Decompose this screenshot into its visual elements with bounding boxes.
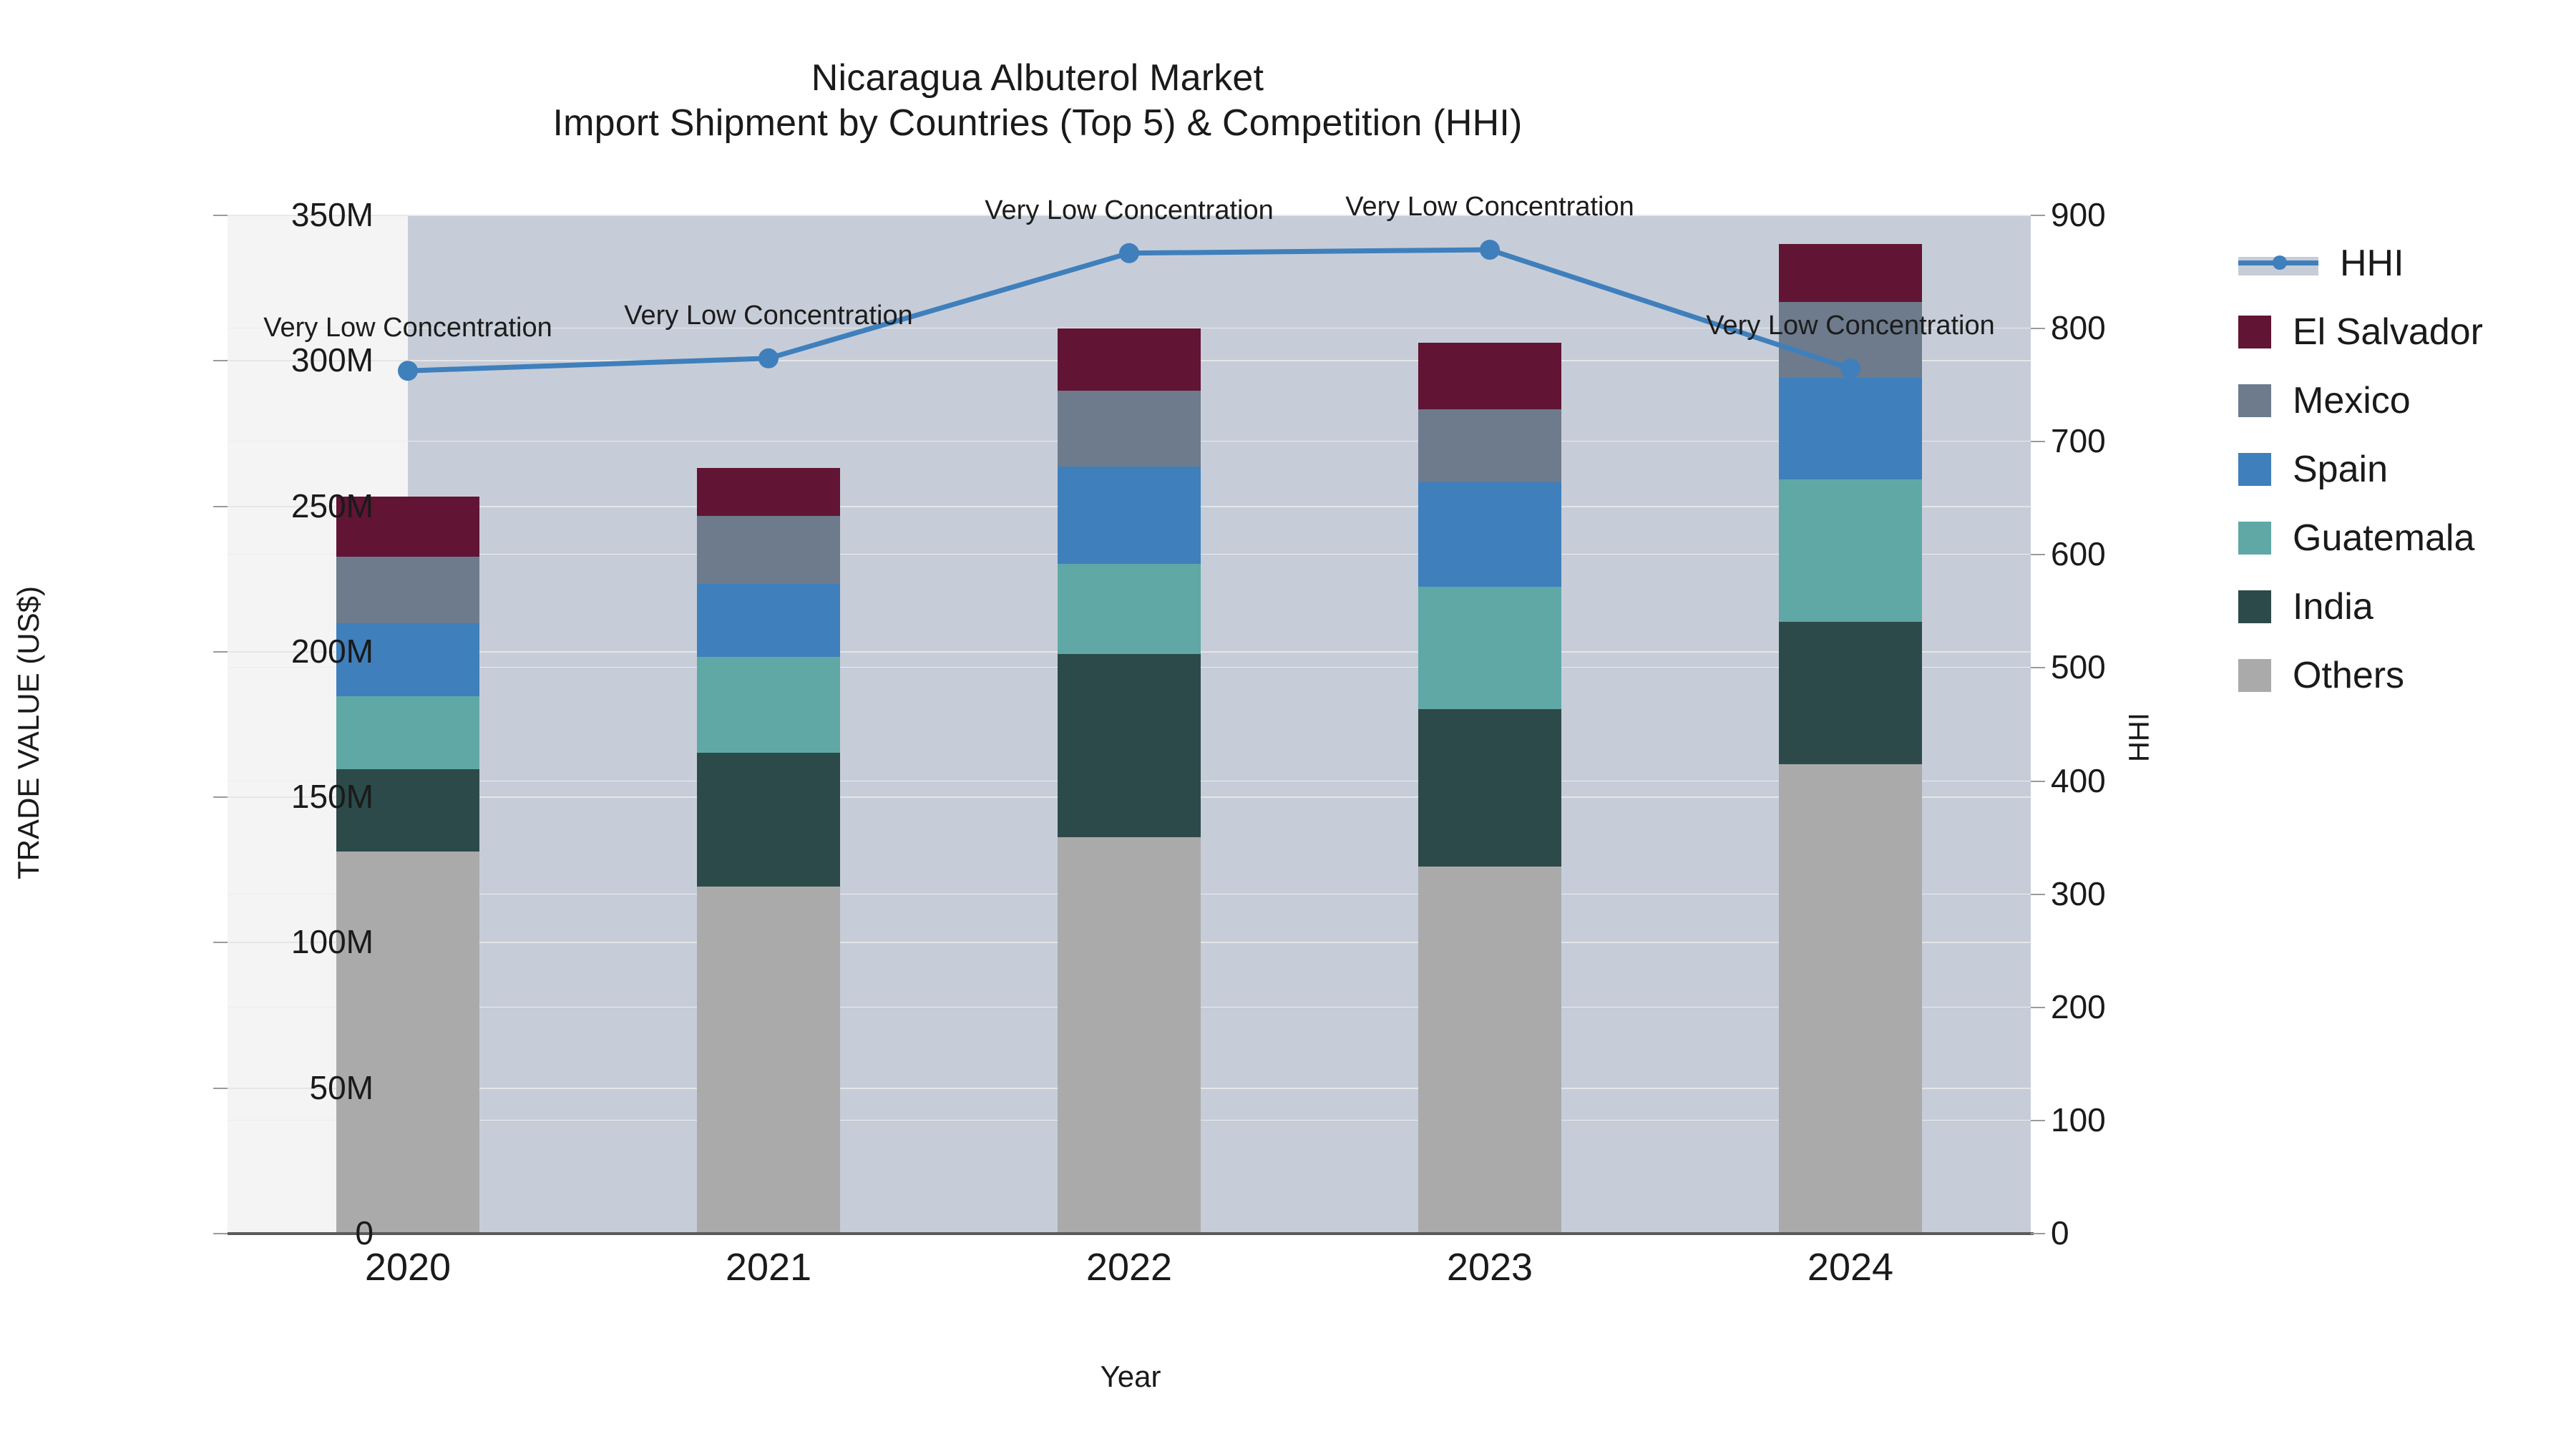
legend-item-india[interactable]: India [2238,572,2483,641]
bar-segment-others[interactable] [336,852,479,1233]
y2-tick-mark [2031,894,2045,895]
x-axis-title: Year [228,1360,2034,1394]
bar-stack[interactable] [1418,343,1561,1233]
legend-swatch-icon [2238,590,2271,623]
bar-segment-guatemala[interactable] [1058,564,1201,654]
bar-stack[interactable] [1779,244,1922,1233]
chart-title-block: Nicaragua Albuterol Market Import Shipme… [0,56,2075,147]
x-tick-label-2020: 2020 [265,1245,551,1289]
x-tick-label-2024: 2024 [1707,1245,1994,1289]
hhi-annotation-2021: Very Low Concentration [624,301,912,331]
bar-segment-mexico[interactable] [1418,409,1561,482]
bar-stack[interactable] [697,468,840,1233]
y2-tick-label: 100 [2051,1101,2223,1139]
plot-area [228,215,2031,1233]
hhi-annotation-2023: Very Low Concentration [1345,192,1634,223]
y2-tick-mark [2031,781,2045,782]
legend-swatch-icon [2238,316,2271,348]
hhi-annotation-2024: Very Low Concentration [1706,311,1994,341]
bar-segment-el-salvador[interactable] [1779,244,1922,302]
y-tick-mark [213,506,228,507]
y-tick-mark [213,215,228,216]
y-tick-mark [213,942,228,943]
bar-segment-others[interactable] [1779,764,1922,1233]
bar-segment-spain[interactable] [1418,482,1561,587]
chart-root: Nicaragua Albuterol Market Import Shipme… [0,0,2576,1449]
legend-line-icon [2238,247,2318,280]
legend-label: Spain [2293,451,2388,488]
x-tick-label-2022: 2022 [986,1245,1272,1289]
y2-tick-label: 900 [2051,195,2223,234]
y2-tick-mark [2031,328,2045,329]
x-tick-label-2021: 2021 [625,1245,912,1289]
bar-segment-guatemala[interactable] [697,657,840,753]
bar-segment-spain[interactable] [1779,378,1922,479]
y2-tick-mark [2031,1233,2045,1234]
hhi-annotation-2020: Very Low Concentration [263,313,552,343]
y2-tick-mark [2031,1007,2045,1008]
legend-swatch-icon [2238,522,2271,555]
y-axis-title: TRADE VALUE (US$) [11,375,46,1091]
y2-tick-mark [2031,215,2045,216]
bar-stack[interactable] [336,497,479,1233]
y2-tick-label: 0 [2051,1214,2223,1252]
y2-tick-mark [2031,1120,2045,1121]
y2-tick-mark [2031,554,2045,555]
y-tick-mark [213,796,228,798]
legend-item-spain[interactable]: Spain [2238,435,2483,504]
bar-segment-india[interactable] [697,753,840,887]
bar-segment-guatemala[interactable] [1779,479,1922,622]
y2-tick-mark [2031,441,2045,442]
legend-item-others[interactable]: Others [2238,641,2483,710]
bar-segment-india[interactable] [1418,709,1561,867]
bar-segment-el-salvador[interactable] [1418,343,1561,410]
y-tick-mark [213,1088,228,1089]
bar-segment-el-salvador[interactable] [697,468,840,516]
y-tick-mark [213,1233,228,1234]
y2-tick-label: 800 [2051,308,2223,347]
bar-segment-india[interactable] [1058,654,1201,837]
y-tick-mark [213,360,228,361]
legend-label: Guatemala [2293,519,2474,557]
legend-item-mexico[interactable]: Mexico [2238,366,2483,435]
bar-segment-others[interactable] [697,887,840,1233]
bar-segment-spain[interactable] [697,584,840,657]
bar-stack[interactable] [1058,328,1201,1233]
page-title: Nicaragua Albuterol Market [0,56,2075,101]
y2-tick-mark [2031,667,2045,668]
hhi-annotation-2022: Very Low Concentration [985,195,1273,226]
bar-segment-spain[interactable] [1058,467,1201,564]
bar-segment-guatemala[interactable] [336,696,479,769]
y2-axis-title: HHI [2124,523,2156,952]
legend-item-guatemala[interactable]: Guatemala [2238,504,2483,572]
legend-label: HHI [2340,245,2404,282]
legend-swatch-icon [2238,384,2271,417]
legend-swatch-icon [2238,453,2271,486]
x-tick-label-2023: 2023 [1347,1245,1633,1289]
legend-label: El Salvador [2293,313,2483,351]
legend-item-el-salvador[interactable]: El Salvador [2238,298,2483,366]
x-axis-line [228,1232,2034,1235]
y2-tick-label: 200 [2051,987,2223,1026]
bar-segment-others[interactable] [1058,837,1201,1233]
bar-segment-mexico[interactable] [336,557,479,624]
legend-label: Mexico [2293,382,2411,419]
y2-tick-label: 700 [2051,421,2223,460]
legend-label: Others [2293,657,2404,694]
bar-segment-guatemala[interactable] [1418,587,1561,709]
legend-swatch-icon [2238,659,2271,692]
bar-segment-mexico[interactable] [697,516,840,585]
bar-segment-mexico[interactable] [1058,391,1201,467]
y-tick-mark [213,651,228,653]
bar-segment-others[interactable] [1418,867,1561,1233]
chart-legend: HHIEl SalvadorMexicoSpainGuatemalaIndiaO… [2238,229,2483,710]
bar-segment-el-salvador[interactable] [1058,328,1201,391]
legend-label: India [2293,588,2373,625]
chart-subtitle: Import Shipment by Countries (Top 5) & C… [0,101,2075,146]
bar-segment-india[interactable] [1779,622,1922,764]
legend-item-hhi[interactable]: HHI [2238,229,2483,298]
